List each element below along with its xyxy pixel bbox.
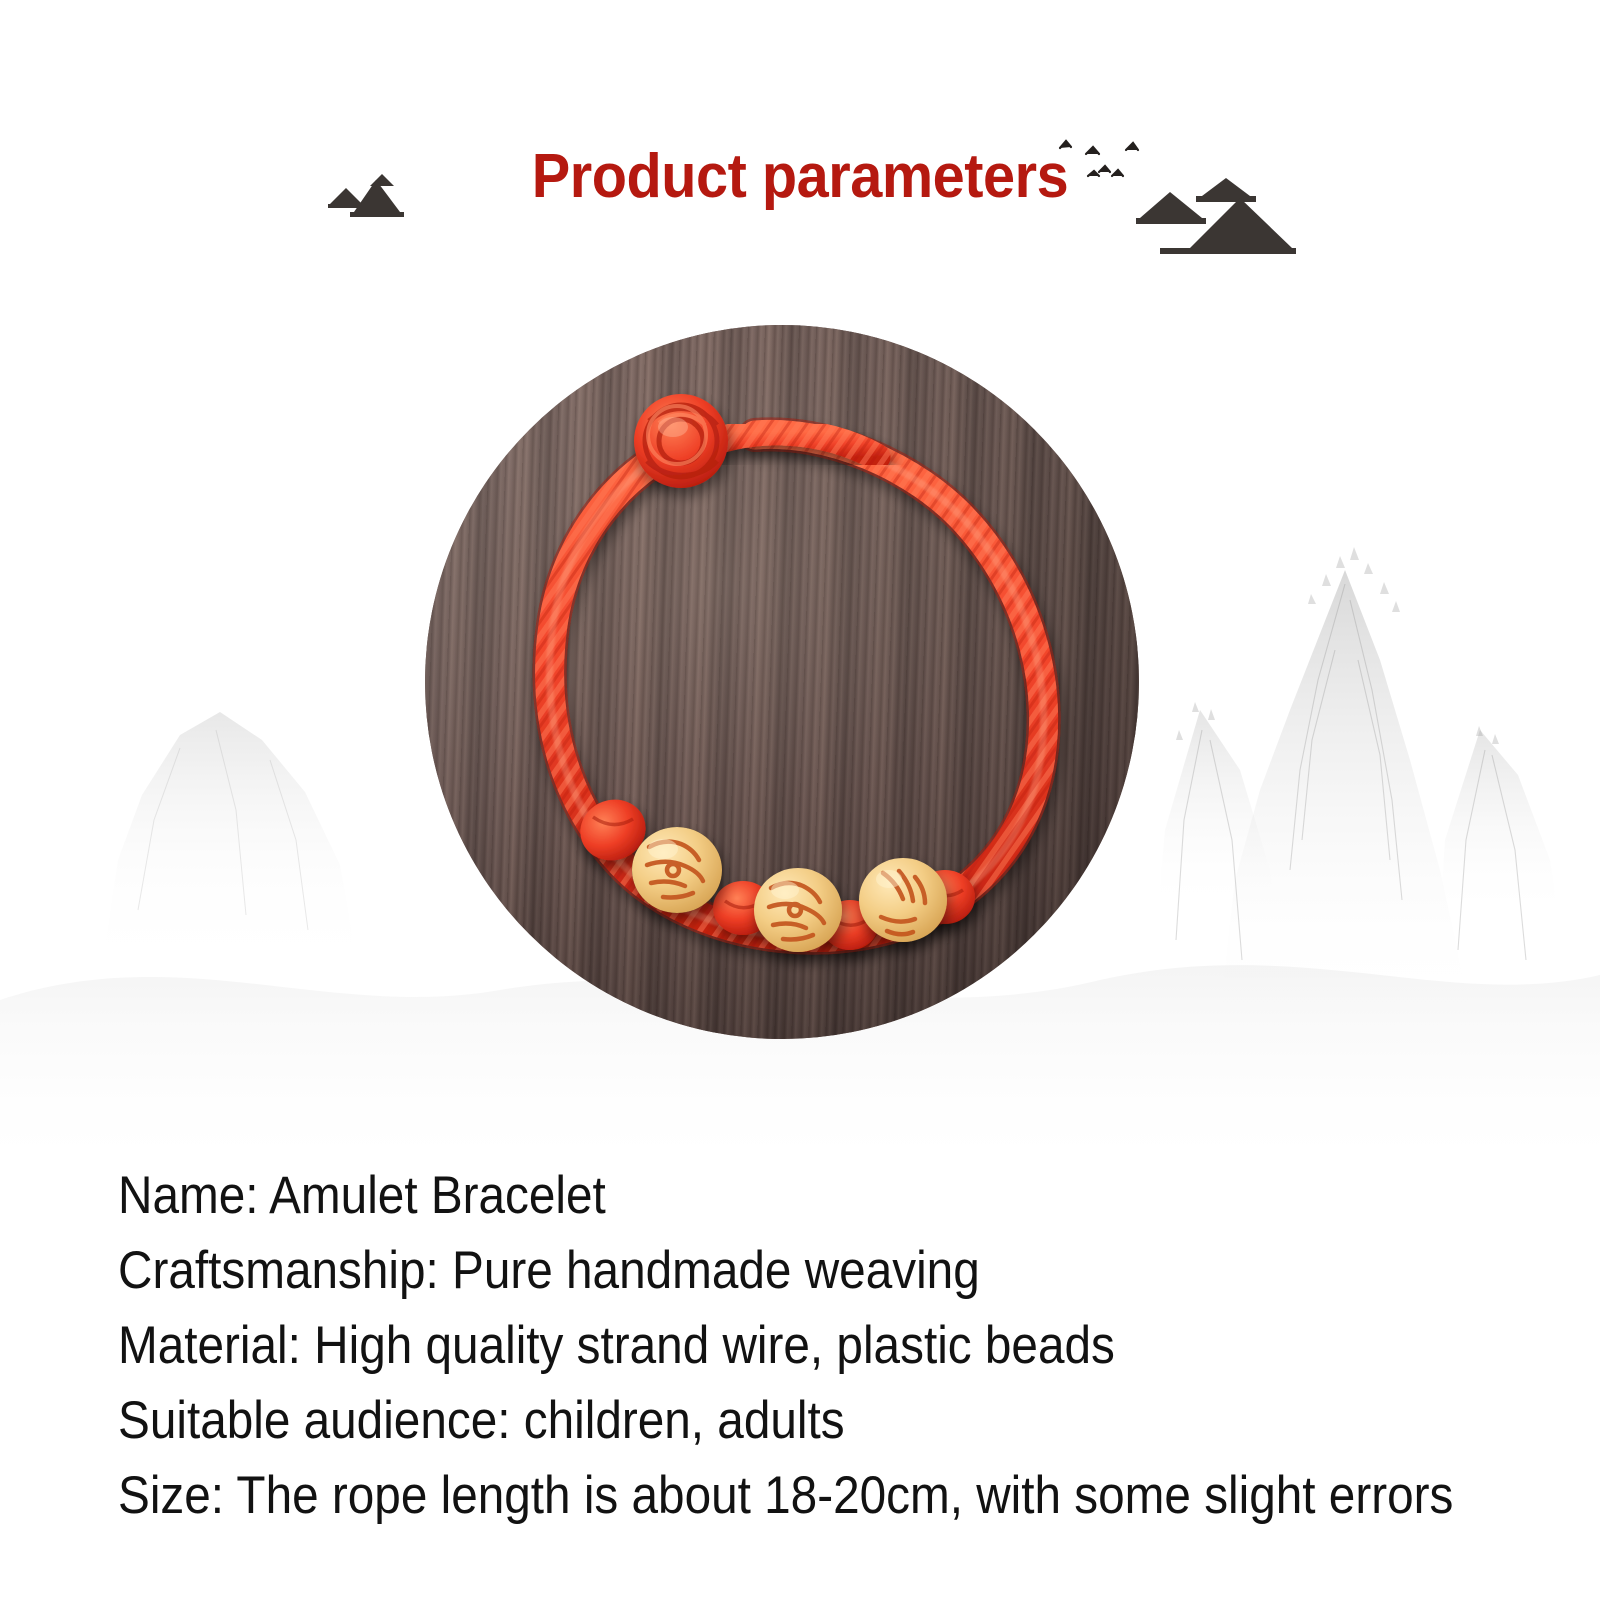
amulet-bracelet-illustration [425,325,1139,1039]
header: Product parameters [0,58,1600,208]
bead-2 [754,868,842,952]
mountain-watermark-right-icon [1140,540,1600,1060]
product-spec-list: Name: Amulet Bracelet Craftsmanship: Pur… [118,1158,1578,1533]
spec-line-size: Size: The rope length is about 18-20cm, … [118,1458,1432,1533]
mountain-and-birds-right-icon [1030,120,1300,255]
mountain-peaks-icon [1136,178,1296,254]
spec-line-craftsmanship: Craftsmanship: Pure handmade weaving [118,1233,1432,1308]
bracelet-knot [634,394,728,488]
spec-line-material: Material: High quality strand wire, plas… [118,1308,1432,1383]
birds-flock-icon [1060,141,1138,176]
bead-3 [859,858,947,942]
mist-watermark-left-icon [30,700,450,1030]
bead-1 [632,827,722,913]
page-title: Product parameters [56,146,1544,208]
spec-line-audience: Suitable audience: children, adults [118,1383,1432,1458]
spec-line-name: Name: Amulet Bracelet [118,1158,1432,1233]
product-image[interactable] [425,325,1139,1039]
bracelet-beads [632,827,947,952]
